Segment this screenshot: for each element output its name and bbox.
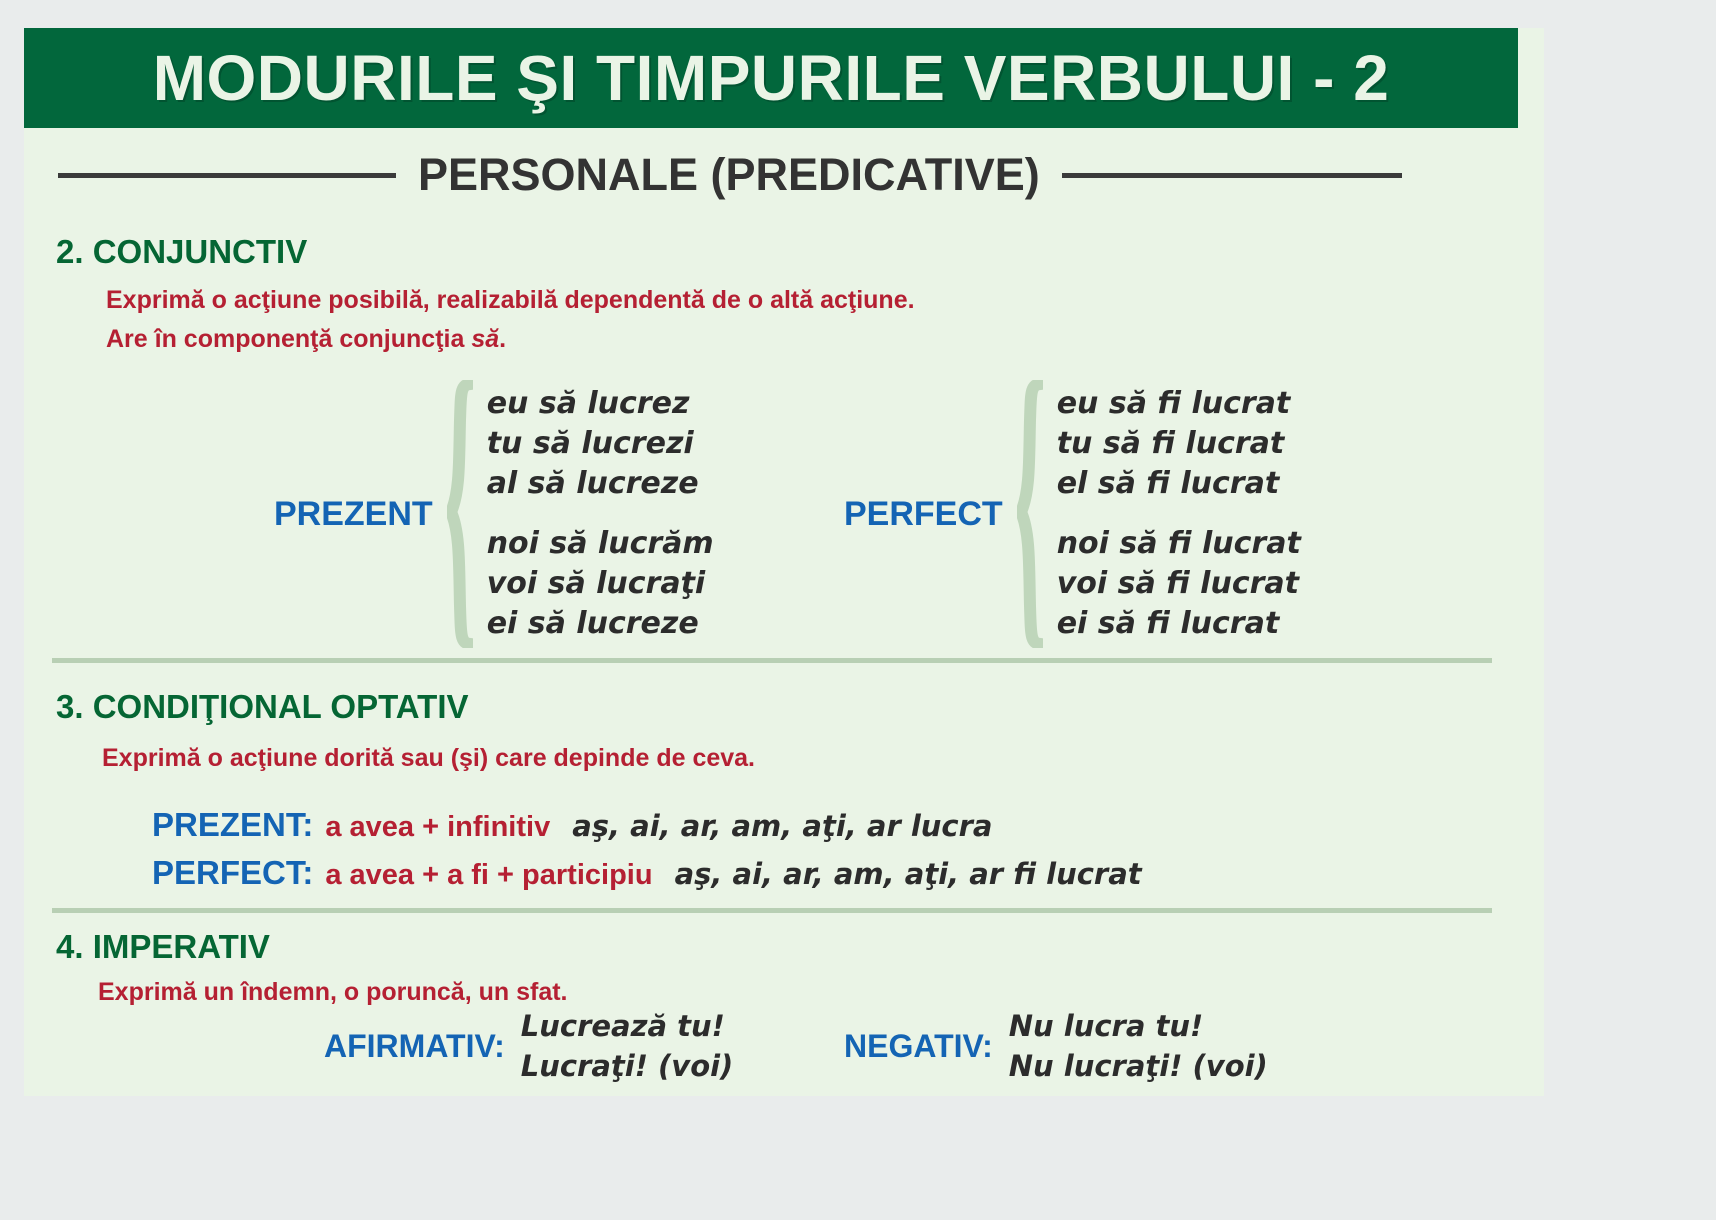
subtitle-rule-left [58,173,396,178]
formula-label-prezent: PREZENT: [152,806,313,844]
form-line: ei să fi lucrat [1057,604,1301,644]
form-line: al să lucreze [487,464,714,504]
imperative-line: Lucraţi! (voi) [521,1046,734,1086]
tense-label-perfect: PERFECT [844,495,1017,534]
form-line: el să fi lucrat [1057,464,1301,504]
imperative-group-negativ: NEGATIV: Nu lucra tu! Nu lucraţi! (voi) [844,1003,1268,1089]
poster-canvas: MODURILE ŞI TIMPURILE VERBULUI - 2 PERSO… [24,28,1544,1096]
form-line: voi să lucraţi [487,564,714,604]
conditional-description: Exprimă o acţiune dorită sau (şi) care d… [102,744,755,773]
poster-title-bar: MODURILE ŞI TIMPURILE VERBULUI - 2 [24,28,1518,128]
conjugation-block-conjunctiv-prezent: PREZENT eu să lucrez tu să lucrezi al să… [274,380,714,648]
conjunctiv-desc2-emphasis: să [471,325,499,353]
section-divider-1 [52,658,1492,663]
imperative-forms-afirmativ: Lucrează tu! Lucraţi! (voi) [521,1006,734,1086]
poster-title: MODURILE ŞI TIMPURILE VERBULUI - 2 [153,46,1390,110]
form-line: tu să fi lucrat [1057,424,1301,464]
section-heading-conjunctiv: 2. CONJUNCTIV [56,233,307,271]
conjunctiv-description-line1: Exprimă o acţiune posibilă, realizabilă … [106,286,915,315]
imperative-label-negativ: NEGATIV: [844,1028,993,1065]
poster-subtitle-row: PERSONALE (PREDICATIVE) [24,140,1518,210]
forms-list-prezent: eu să lucrez tu să lucrezi al să lucreze… [473,384,714,644]
imperative-group-afirmativ: AFIRMATIV: Lucrează tu! Lucraţi! (voi) [324,1003,733,1089]
imperative-label-afirmativ: AFIRMATIV: [324,1028,505,1065]
conjugation-block-conjunctiv-perfect: PERFECT eu să fi lucrat tu să fi lucrat … [844,380,1301,648]
forms-separator [487,504,714,524]
formula-structure-perfect: a avea + a fi + participiu [325,859,652,892]
forms-list-perfect: eu să fi lucrat tu să fi lucrat el să fi… [1043,384,1301,644]
subtitle-rule-right [1062,173,1402,178]
poster-subtitle: PERSONALE (PREDICATIVE) [418,149,1040,201]
conjunctiv-desc2-prefix: Are în componenţă conjuncţia [106,325,471,353]
section-heading-imperativ: 4. IMPERATIV [56,928,270,966]
imperative-line: Lucrează tu! [521,1006,734,1046]
forms-separator [1057,504,1301,524]
form-line: noi să fi lucrat [1057,524,1301,564]
formula-structure-prezent: a avea + infinitiv [325,811,550,844]
section-heading-conditional-optativ: 3. CONDIŢIONAL OPTATIV [56,688,469,726]
form-line: tu să lucrezi [487,424,714,464]
tense-label-prezent: PREZENT [274,495,447,534]
conjunctiv-description-line2: Are în componenţă conjuncţia să. [106,325,506,354]
form-line: voi să fi lucrat [1057,564,1301,604]
conjunctiv-desc2-suffix: . [499,325,506,353]
form-line: eu să fi lucrat [1057,384,1301,424]
formula-label-perfect: PERFECT: [152,854,313,892]
form-line: eu să lucrez [487,384,714,424]
brace-icon [1017,380,1043,648]
form-line: ei să lucreze [487,604,714,644]
formula-example-perfect: aş, ai, ar, am, aţi, ar fi lucrat [675,857,1142,891]
imperative-forms-negativ: Nu lucra tu! Nu lucraţi! (voi) [1009,1006,1268,1086]
formula-example-prezent: aş, ai, ar, am, aţi, ar lucra [572,809,992,843]
imperative-line: Nu lucraţi! (voi) [1009,1046,1268,1086]
formula-row-perfect: PERFECT: a avea + a fi + participiu aş, … [152,854,1142,892]
section-divider-2 [52,908,1492,913]
brace-icon [447,380,473,648]
form-line: noi să lucrăm [487,524,714,564]
formula-row-prezent: PREZENT: a avea + infinitiv aş, ai, ar, … [152,806,993,844]
imperative-line: Nu lucra tu! [1009,1006,1268,1046]
